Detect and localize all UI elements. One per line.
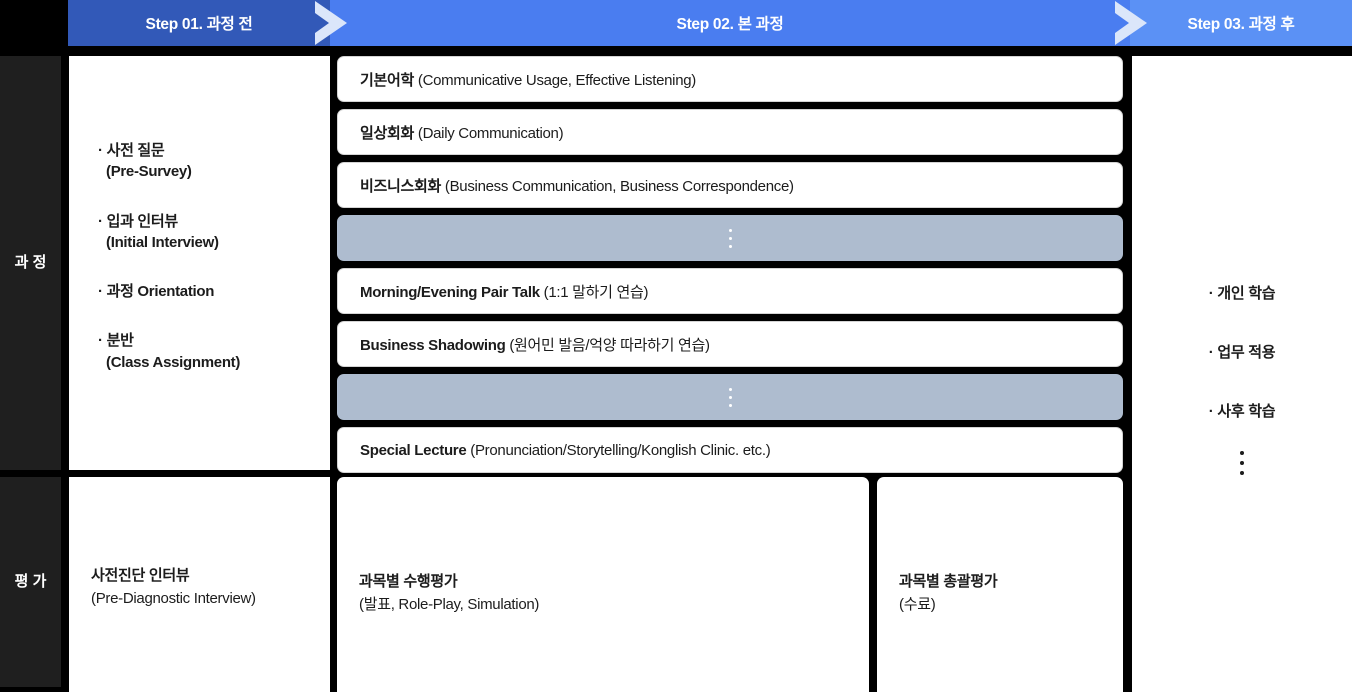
step-01-item-0-sub: (Pre-Survey) [98, 161, 320, 182]
step-01-item-1-sub: (Initial Interview) [98, 232, 320, 253]
evaluation-step1-title: 사전진단 인터뷰 [91, 565, 256, 588]
category-label-course: 과 정 [0, 56, 61, 470]
course-card-7-text: Special Lecture (Pronunciation/Storytell… [338, 442, 770, 459]
step-03-panel: · 개인 학습 · 업무 적용 · 사후 학습 [1132, 56, 1352, 692]
course-card-basic-language[interactable]: 기본어학 (Communicative Usage, Effective Lis… [337, 56, 1123, 102]
evaluation-step2b-sub: (수료) [899, 594, 997, 617]
course-card-0-desc: (Communicative Usage, Effective Listenin… [418, 72, 696, 89]
evaluation-step2b-text: 과목별 총괄평가 (수료) [899, 571, 997, 616]
step-03-item-1: · 업무 적용 [1132, 341, 1352, 362]
course-card-business-shadowing[interactable]: Business Shadowing (원어민 발음/억양 따라하기 연습) [337, 321, 1123, 367]
category-evaluation-text: 평 가 [15, 573, 47, 592]
step-01-banner[interactable]: Step 01. 과정 전 [68, 0, 330, 46]
evaluation-step2a-text: 과목별 수행평가 (발표, Role-Play, Simulation) [359, 571, 539, 616]
list-item: · 입과 인터뷰 (Initial Interview) [98, 211, 320, 254]
course-card-2-title: 비즈니스회화 [360, 178, 441, 195]
step-01-item-1-main: · 입과 인터뷰 [98, 211, 320, 232]
evaluation-step1-sub: (Pre-Diagnostic Interview) [91, 588, 256, 611]
course-card-ellipsis-1 [337, 215, 1123, 261]
step-03-item-list: · 개인 학습 · 업무 적용 · 사후 학습 [1132, 282, 1352, 475]
evaluation-step2a-sub: (발표, Role-Play, Simulation) [359, 594, 539, 617]
step-01-item-list: · 사전 질문 (Pre-Survey) · 입과 인터뷰 (Initial I… [98, 140, 320, 373]
course-card-special-lecture[interactable]: Special Lecture (Pronunciation/Storytell… [337, 427, 1123, 473]
evaluation-step2a-title: 과목별 수행평가 [359, 571, 539, 594]
step-03-item-2: · 사후 학습 [1132, 400, 1352, 421]
step-02-label: Step 02. 본 과정 [677, 12, 784, 34]
step-01-item-3-main: · 분반 [98, 330, 320, 351]
course-card-5-text: Business Shadowing (원어민 발음/억양 따라하기 연습) [338, 334, 710, 355]
step-header: Step 01. 과정 전 Step 02. 본 과정 Step 03. 과정 … [0, 0, 1352, 46]
course-card-business-communication[interactable]: 비즈니스회화 (Business Communication, Business… [337, 162, 1123, 208]
evaluation-card-summative[interactable]: 과목별 총괄평가 (수료) [877, 477, 1123, 692]
course-card-2-text: 비즈니스회화 (Business Communication, Business… [338, 175, 794, 196]
evaluation-step2b-title: 과목별 총괄평가 [899, 571, 997, 594]
evaluation-step1-text: 사전진단 인터뷰 (Pre-Diagnostic Interview) [91, 565, 256, 610]
course-card-1-title: 일상회화 [360, 125, 414, 142]
list-item: · 사전 질문 (Pre-Survey) [98, 140, 320, 183]
course-card-4-desc: (1:1 말하기 연습) [544, 284, 649, 301]
course-card-4-title: Morning/Evening Pair Talk [360, 284, 540, 301]
list-item: · 분반 (Class Assignment) [98, 330, 320, 373]
category-label-evaluation: 평 가 [0, 477, 61, 687]
course-card-1-desc: (Daily Communication) [418, 125, 563, 142]
step-01-label: Step 01. 과정 전 [146, 12, 253, 34]
course-card-0-text: 기본어학 (Communicative Usage, Effective Lis… [338, 69, 696, 90]
course-card-1-text: 일상회화 (Daily Communication) [338, 122, 563, 143]
course-card-daily-communication[interactable]: 일상회화 (Daily Communication) [337, 109, 1123, 155]
step-01-evaluation-panel: 사전진단 인터뷰 (Pre-Diagnostic Interview) [69, 477, 330, 692]
course-card-0-title: 기본어학 [360, 72, 414, 89]
step-01-course-panel: · 사전 질문 (Pre-Survey) · 입과 인터뷰 (Initial I… [69, 56, 330, 470]
vertical-ellipsis-icon [729, 229, 732, 248]
course-card-7-desc: (Pronunciation/Storytelling/Konglish Cli… [470, 442, 770, 459]
course-card-7-title: Special Lecture [360, 442, 466, 459]
evaluation-card-performance[interactable]: 과목별 수행평가 (발표, Role-Play, Simulation) [337, 477, 869, 692]
step-03-label: Step 03. 과정 후 [1188, 12, 1295, 34]
list-item: · 과정 Orientation [98, 281, 320, 302]
course-card-2-desc: (Business Communication, Business Corres… [445, 178, 794, 195]
step-03-banner[interactable]: Step 03. 과정 후 [1130, 0, 1352, 46]
course-card-ellipsis-2 [337, 374, 1123, 420]
course-card-5-desc: (원어민 발음/억양 따라하기 연습) [509, 337, 709, 354]
category-course-text: 과 정 [15, 254, 47, 273]
step-03-item-0: · 개인 학습 [1132, 282, 1352, 303]
course-card-4-text: Morning/Evening Pair Talk (1:1 말하기 연습) [338, 281, 648, 302]
course-card-pair-talk[interactable]: Morning/Evening Pair Talk (1:1 말하기 연습) [337, 268, 1123, 314]
vertical-ellipsis-icon [1132, 451, 1352, 475]
step-02-banner[interactable]: Step 02. 본 과정 [330, 0, 1130, 46]
vertical-ellipsis-icon [729, 388, 732, 407]
course-card-5-title: Business Shadowing [360, 337, 505, 354]
step-02-evaluation-card-list: 과목별 수행평가 (발표, Role-Play, Simulation) 과목별… [337, 477, 1123, 692]
step-01-item-0-main: · 사전 질문 [98, 140, 320, 161]
step-01-item-2-main: · 과정 Orientation [98, 281, 320, 302]
step-02-course-card-list: 기본어학 (Communicative Usage, Effective Lis… [337, 56, 1123, 470]
step-01-item-3-sub: (Class Assignment) [98, 352, 320, 373]
